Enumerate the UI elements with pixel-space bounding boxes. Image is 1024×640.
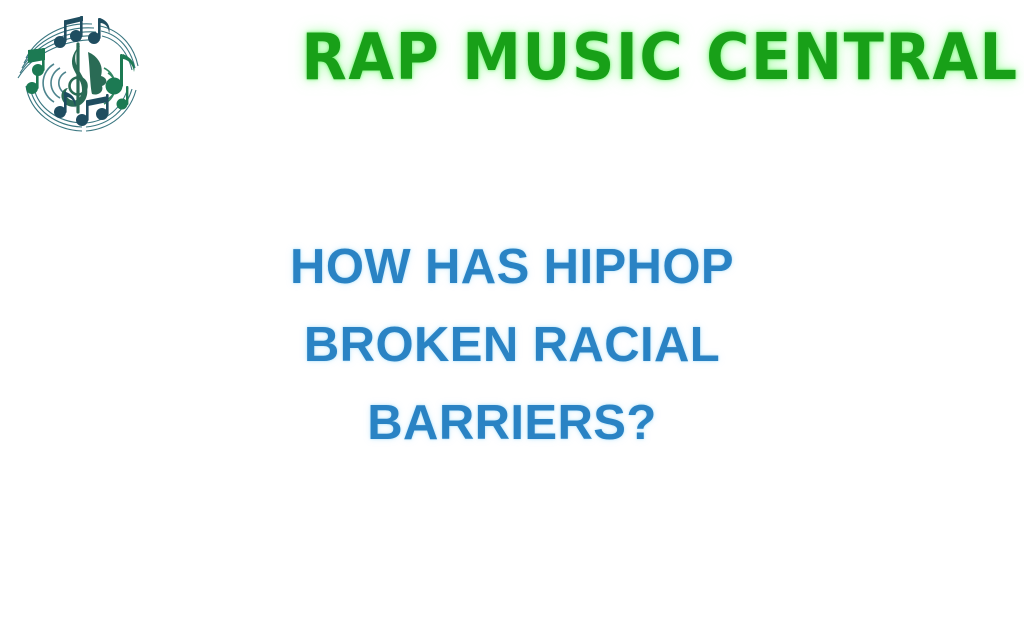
page-title-line-2: BROKEN RACIAL: [232, 306, 792, 384]
header-bar: RAP MUSIC CENTRAL: [0, 0, 1024, 150]
page-title-line-1: HOW HAS HIPHOP: [232, 228, 792, 306]
page-title-line-3: BARRIERS?: [232, 384, 792, 462]
main-content: HOW HAS HIPHOP BROKEN RACIAL BARRIERS?: [0, 228, 1024, 462]
music-notes-circle-logo-icon: [8, 8, 150, 144]
brand-title: RAP MUSIC CENTRAL: [300, 22, 1020, 93]
slide-canvas: RAP MUSIC CENTRAL HOW HAS HIPHOP BROKEN …: [0, 0, 1024, 640]
page-title: HOW HAS HIPHOP BROKEN RACIAL BARRIERS?: [232, 228, 792, 462]
